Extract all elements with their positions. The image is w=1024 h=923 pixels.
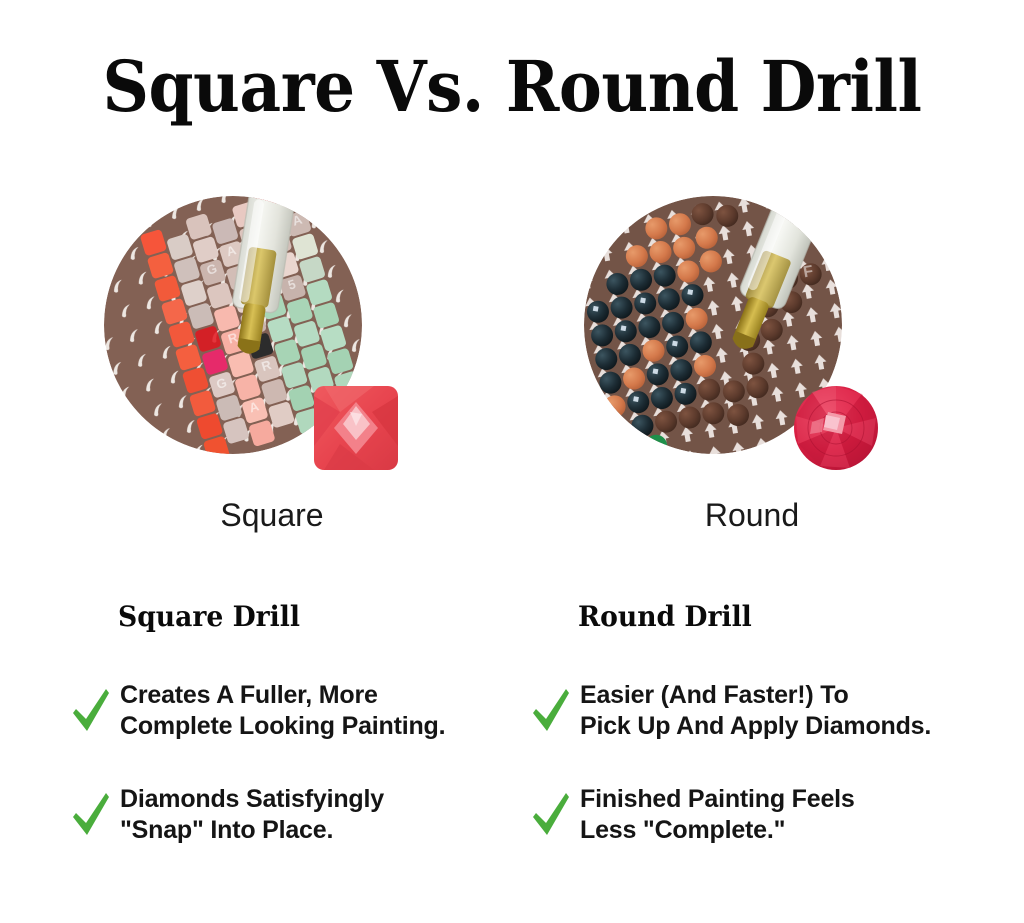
infographic-page: { "title": "Square Vs. Round Drill", "ph… bbox=[0, 0, 1024, 923]
list-item: Finished Painting Feels Less "Complete." bbox=[578, 784, 1024, 846]
list-item-text: Diamonds Satisfyingly "Snap" Into Place. bbox=[120, 784, 384, 846]
check-icon bbox=[70, 791, 112, 839]
square-drill-pros-column: Square Drill Creates A Fuller, More Comp… bbox=[118, 600, 578, 846]
square-drill-heading: Square Drill bbox=[118, 600, 555, 634]
round-drill-pros-column: Round Drill Easier (And Faster!) To Pick… bbox=[578, 600, 1024, 846]
list-item-text: Easier (And Faster!) To Pick Up And Appl… bbox=[580, 680, 931, 742]
list-item: Creates A Fuller, More Complete Looking … bbox=[118, 680, 578, 742]
drill-comparison-section: Square Drill Creates A Fuller, More Comp… bbox=[0, 600, 1024, 900]
list-item: Easier (And Faster!) To Pick Up And Appl… bbox=[578, 680, 1024, 742]
round-drill-heading: Round Drill bbox=[578, 600, 1015, 634]
check-icon bbox=[530, 791, 572, 839]
page-title: Square Vs. Round Drill bbox=[41, 48, 983, 126]
list-item-text: Finished Painting Feels Less "Complete." bbox=[580, 784, 855, 846]
square-photo-caption: Square bbox=[72, 496, 472, 534]
photo-comparison-row: G A R R G A 5 5 A A bbox=[0, 196, 1024, 486]
round-photo-column: E F bbox=[552, 196, 952, 486]
list-item: Diamonds Satisfyingly "Snap" Into Place. bbox=[118, 784, 578, 846]
square-drill-gem bbox=[310, 382, 402, 474]
list-item-text: Creates A Fuller, More Complete Looking … bbox=[120, 680, 445, 742]
round-photo-caption: Round bbox=[552, 496, 952, 534]
check-icon bbox=[70, 687, 112, 735]
check-icon bbox=[530, 687, 572, 735]
round-drill-gem bbox=[790, 382, 882, 474]
square-photo-column: G A R R G A 5 5 A A bbox=[72, 196, 472, 486]
